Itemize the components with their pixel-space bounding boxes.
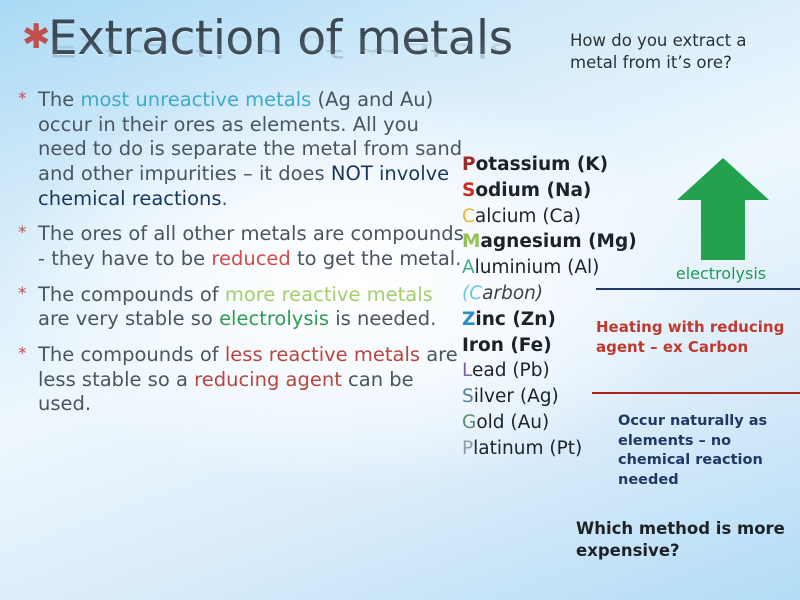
series-item-initial: C	[462, 206, 475, 227]
series-item-name: ron (Fe)	[469, 335, 552, 356]
series-item-initial: I	[462, 335, 469, 356]
bullet-text: The compounds of	[38, 283, 225, 306]
bullet-highlight: electrolysis	[219, 307, 329, 330]
header-question: How do you extract a metal from it’s ore…	[570, 30, 795, 74]
series-item-initial: G	[462, 412, 476, 433]
electrolysis-label: electrolysis	[664, 264, 778, 283]
bullet-text: is needed.	[329, 307, 436, 330]
title-asterisk-icon: ✱	[22, 20, 51, 54]
series-item-initial: P	[462, 438, 473, 459]
bullet-text: The	[38, 88, 80, 111]
bullet-text: The compounds of	[38, 343, 225, 366]
bullet-highlight: less reactive metals	[225, 343, 420, 366]
series-item-name: odium (Na)	[475, 180, 591, 201]
series-item-initial: Z	[462, 309, 475, 330]
bullet-highlight: reducing agent	[194, 368, 342, 391]
slide-canvas: ✱ Extraction of metals Extraction of met…	[0, 0, 800, 600]
native-elements-note: Occur naturally as elements – no chemica…	[618, 412, 800, 491]
series-item-initial: S	[462, 180, 475, 201]
divider-red	[592, 392, 800, 394]
series-item-initial: (C	[462, 283, 482, 304]
series-item: Sodium (Na)	[462, 178, 612, 204]
series-item: Aluminium (Al)	[462, 255, 612, 281]
series-item-name: otassium (K)	[476, 154, 609, 175]
divider-navy	[596, 288, 800, 290]
bullet-item: *The most unreactive metals (Ag and Au) …	[18, 88, 466, 211]
page-title: Extraction of metals	[48, 14, 513, 63]
bullet-asterisk-icon: *	[18, 284, 27, 304]
series-item-name: arbon)	[482, 283, 543, 304]
series-item-name: latinum (Pt)	[473, 438, 582, 459]
reactivity-series-list: Potassium (K)Sodium (Na)Calcium (Ca)Magn…	[462, 152, 612, 462]
series-item-initial: P	[462, 154, 476, 175]
bullet-asterisk-icon: *	[18, 89, 27, 109]
bullet-item: *The compounds of more reactive metals a…	[18, 283, 466, 332]
bullet-list: *The most unreactive metals (Ag and Au) …	[18, 88, 466, 428]
bullet-highlight: reduced	[211, 247, 290, 270]
bullet-text: to get the metal.	[291, 247, 462, 270]
series-item-name: alcium (Ca)	[475, 206, 581, 227]
bullet-asterisk-icon: *	[18, 344, 27, 364]
series-item: Iron (Fe)	[462, 333, 612, 359]
bullet-asterisk-icon: *	[18, 223, 27, 243]
reducing-agent-note: Heating with reducing agent – ex Carbon	[596, 318, 796, 358]
series-item-initial: M	[462, 231, 480, 252]
series-item: Gold (Au)	[462, 410, 612, 436]
series-item-initial: S	[462, 386, 474, 407]
series-item: Calcium (Ca)	[462, 204, 612, 230]
series-item-initial: A	[462, 257, 475, 278]
slide-title-block: ✱ Extraction of metals Extraction of met…	[22, 14, 582, 94]
series-item-name: ilver (Ag)	[474, 386, 559, 407]
series-item: Potassium (K)	[462, 152, 612, 178]
cost-question: Which method is more expensive?	[576, 518, 796, 562]
series-item-name: ead (Pb)	[472, 360, 550, 381]
bullet-text: are very stable so	[38, 307, 219, 330]
series-item-name: old (Au)	[476, 412, 549, 433]
series-item-name: inc (Zn)	[475, 309, 555, 330]
bullet-highlight: most unreactive metals	[80, 88, 311, 111]
series-item-name: luminium (Al)	[475, 257, 600, 278]
bullet-item: *The compounds of less reactive metals a…	[18, 343, 466, 417]
series-item: Magnesium (Mg)	[462, 229, 612, 255]
electrolysis-arrow-group: electrolysis	[668, 152, 778, 283]
series-item: Zinc (Zn)	[462, 307, 612, 333]
series-item-name: agnesium (Mg)	[480, 231, 636, 252]
series-item: Silver (Ag)	[462, 384, 612, 410]
series-item: (Carbon)	[462, 281, 612, 307]
bullet-highlight: more reactive metals	[225, 283, 433, 306]
series-item-initial: L	[462, 360, 472, 381]
bullet-item: *The ores of all other metals are compou…	[18, 222, 466, 271]
series-item: Lead (Pb)	[462, 358, 612, 384]
series-item: Platinum (Pt)	[462, 436, 612, 462]
up-arrow-icon	[668, 152, 778, 262]
bullet-text: .	[222, 187, 228, 210]
